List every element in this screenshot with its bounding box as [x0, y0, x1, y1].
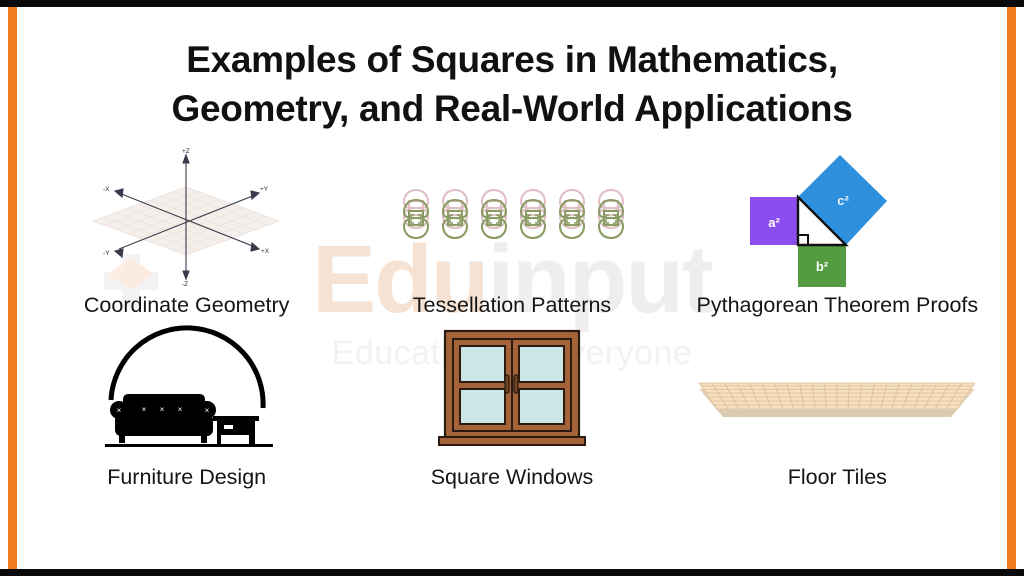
- window-pane-top-right: [519, 346, 564, 382]
- tessellation-pattern-icon: [390, 186, 634, 248]
- sofa-shape: [110, 394, 216, 443]
- caption-furniture-design: Furniture Design: [107, 465, 266, 490]
- example-card-floor-tiles: Floor Tiles: [675, 318, 1000, 490]
- axis-label-plus-z: +Z: [182, 148, 190, 155]
- floor-front-edge: [717, 409, 957, 417]
- caption-tessellation-patterns: Tessellation Patterns: [413, 293, 611, 318]
- page-title-line1: Examples of Squares in Mathematics,: [186, 39, 838, 80]
- svg-text:×: ×: [159, 405, 164, 414]
- axis-label-minus-y: -Y: [103, 250, 110, 257]
- window-pane-bottom-left: [460, 389, 505, 424]
- axis-label-plus-y: +Y: [260, 186, 269, 193]
- svg-text:×: ×: [177, 405, 182, 414]
- window-handle-right[interactable]: [514, 375, 518, 393]
- square-window-icon: [437, 325, 587, 453]
- pythagorean-illustration: a² b² c²: [675, 139, 1000, 289]
- window-illustration: [349, 318, 674, 461]
- tessellation-illustration: [349, 146, 674, 289]
- window-handle-left[interactable]: [505, 375, 509, 393]
- svg-text:×: ×: [116, 406, 121, 415]
- axis-label-plus-x: +X: [261, 248, 270, 255]
- axis-label-minus-z: -Z: [182, 281, 188, 287]
- left-accent-bar: [8, 7, 17, 569]
- square-c-label: c²: [838, 193, 850, 208]
- example-card-coordinate-geometry: +Z -Z +Y -X +X -Y Coordinate Geometry: [24, 146, 349, 318]
- side-table-shape: [213, 416, 259, 444]
- infographic-page: Eduinput Education for everyone Examples…: [0, 0, 1024, 576]
- examples-grid: +Z -Z +Y -X +X -Y Coordinate Geometry: [24, 146, 1000, 490]
- example-card-square-windows: Square Windows: [349, 318, 674, 490]
- pythagorean-squares-icon: a² b² c²: [742, 139, 932, 289]
- page-title: Examples of Squares in Mathematics, Geom…: [24, 18, 1000, 134]
- table-drawer-handle: [224, 425, 233, 429]
- axis-label-minus-x: -X: [103, 186, 110, 193]
- example-card-furniture-design: × × × × ×: [24, 318, 349, 490]
- right-accent-bar: [1007, 7, 1016, 569]
- axes-3d-icon: +Z -Z +Y -X +X -Y: [79, 147, 294, 287]
- caption-floor-tiles: Floor Tiles: [788, 465, 887, 490]
- content-area: Examples of Squares in Mathematics, Geom…: [24, 18, 1000, 558]
- coordinate-geometry-illustration: +Z -Z +Y -X +X -Y: [24, 146, 349, 289]
- bottom-frame-bar: [0, 569, 1024, 576]
- svg-text:×: ×: [204, 406, 209, 415]
- square-b-label: b²: [816, 259, 829, 274]
- caption-pythagorean-theorem-proofs: Pythagorean Theorem Proofs: [697, 293, 979, 318]
- furniture-illustration: × × × × ×: [24, 318, 349, 461]
- window-pane-top-left: [460, 346, 505, 382]
- perspective-floor-icon: [687, 329, 987, 449]
- example-card-pythagorean-theorem-proofs: a² b² c² Pythagorean Theorem Proofs: [675, 146, 1000, 318]
- window-pane-bottom-right: [519, 389, 564, 424]
- floor-line: [105, 444, 273, 447]
- caption-square-windows: Square Windows: [431, 465, 594, 490]
- square-a-label: a²: [769, 215, 781, 230]
- sofa-silhouette-icon: × × × × ×: [83, 322, 291, 457]
- window-sill: [439, 437, 585, 445]
- floor-tiles-illustration: [675, 318, 1000, 461]
- caption-coordinate-geometry: Coordinate Geometry: [84, 293, 290, 318]
- page-title-line2: Geometry, and Real-World Applications: [171, 88, 852, 129]
- top-frame-bar: [0, 0, 1024, 7]
- example-card-tessellation-patterns: Tessellation Patterns: [349, 146, 674, 318]
- svg-text:×: ×: [141, 405, 146, 414]
